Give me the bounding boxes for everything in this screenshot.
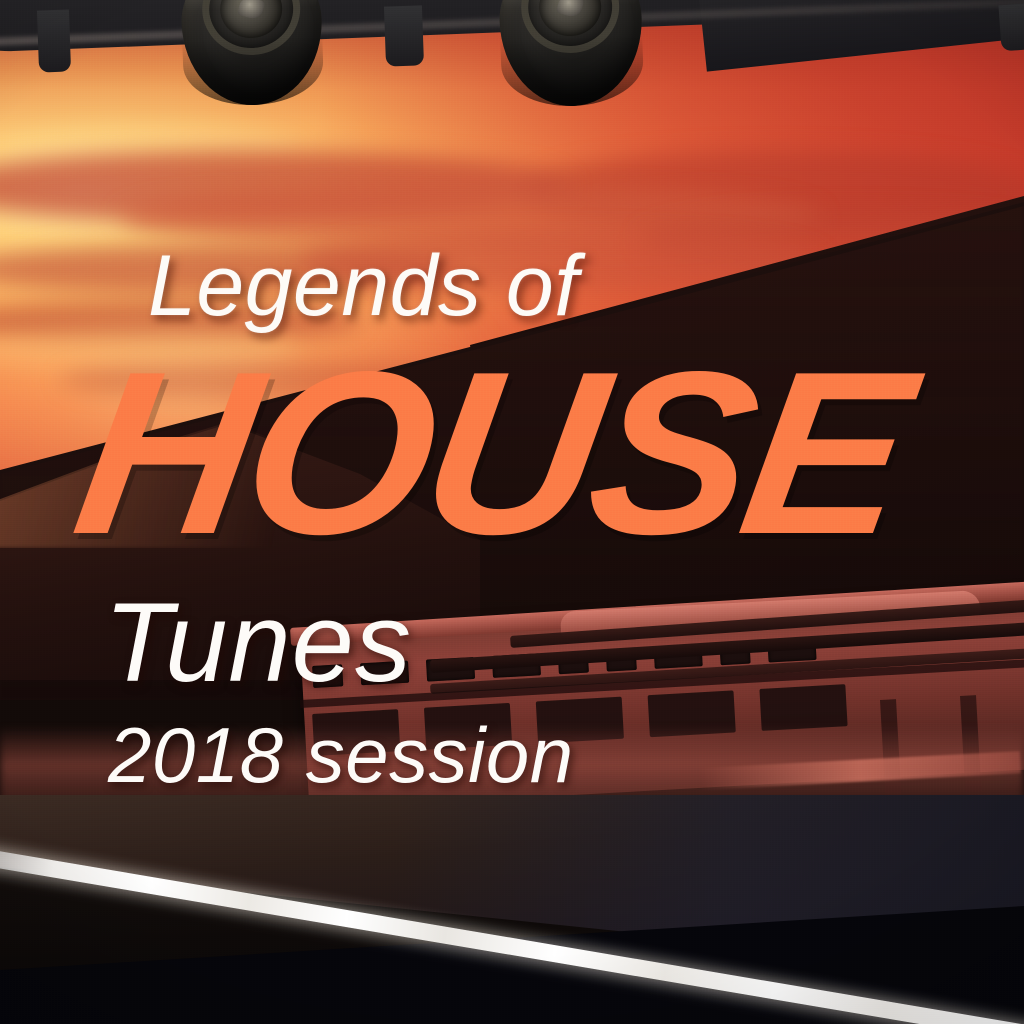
album-cover: Legends of HOUSE Tunes 2018 session <box>0 0 1024 1024</box>
title-line-2018-session: 2018 session <box>108 716 574 794</box>
title-line-legends-of: Legends of <box>148 243 579 329</box>
title-block: Legends of HOUSE Tunes 2018 session <box>0 0 1024 1024</box>
title-line-tunes: Tunes <box>104 587 412 699</box>
title-line-house: HOUSE <box>63 338 919 570</box>
